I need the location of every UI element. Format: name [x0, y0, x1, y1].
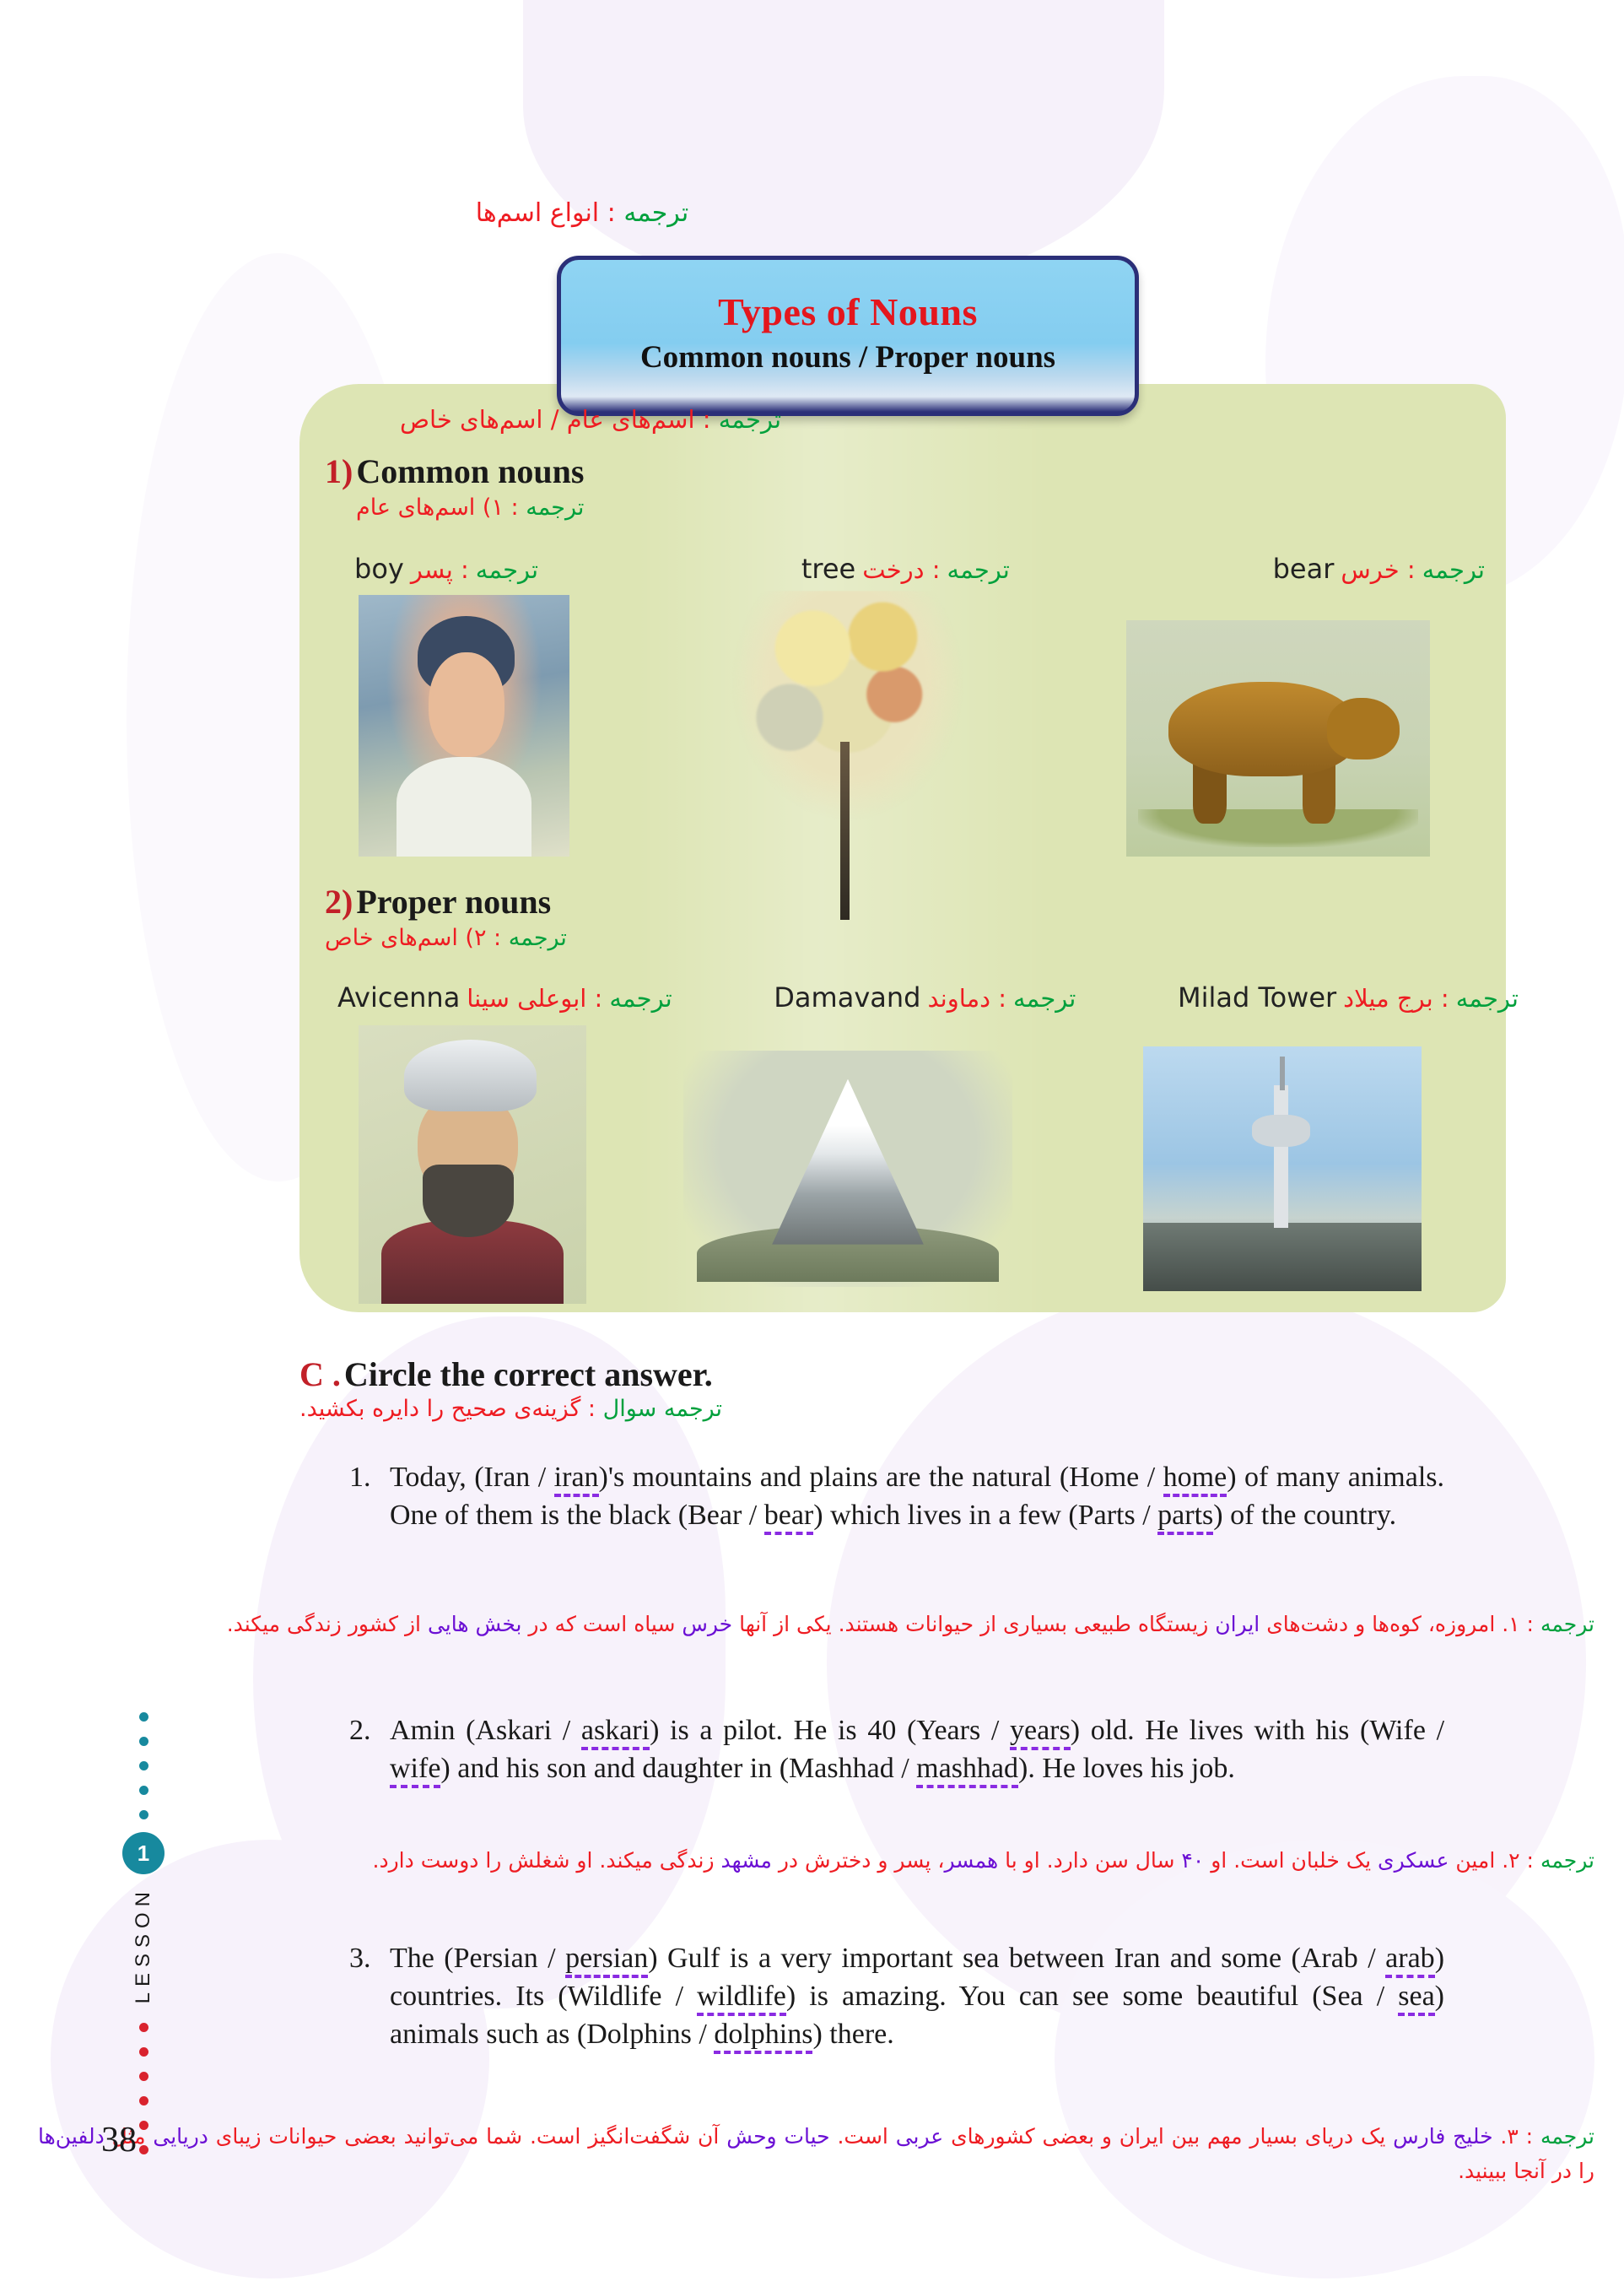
word-label-avicenna: Avicenna	[337, 981, 460, 1014]
distractor-underline[interactable]: home	[1163, 1462, 1227, 1497]
label-item-milad-tower: ترجمه : برج میلاد Milad Tower	[1178, 981, 1519, 1014]
red-dot	[139, 2121, 148, 2130]
label-item-avicenna: ترجمه : ابوعلی سینا Avicenna	[337, 981, 672, 1014]
question-3-translation: ترجمه : ۳. خلیج فارس یک دریای بسیار مهم …	[38, 2120, 1594, 2188]
translation-text: یک دریای بسیار مهم بین ایران و بعضی کشور…	[943, 2124, 1393, 2149]
page-subtitle: Common nouns / Proper nouns	[640, 339, 1055, 376]
label-item-bear: ترجمه : خرس bear	[1273, 553, 1485, 585]
question-text: The (Persian / persian) Gulf is a very i…	[390, 1943, 1444, 2054]
red-dot	[139, 2145, 148, 2154]
red-dot	[139, 2023, 148, 2032]
word-label-bear: bear	[1273, 553, 1335, 585]
distractor-underline[interactable]: parts	[1157, 1500, 1213, 1535]
word-label-boy: boy	[354, 553, 404, 585]
translation-text: سال سن دارد. او با	[998, 1848, 1181, 1873]
highlight-word: حیات وحش	[726, 2124, 829, 2149]
lesson-label: LESSON	[132, 1886, 155, 2003]
watermark-shape	[827, 1283, 1586, 2042]
question-2-translation: ترجمه : ۲. امین عسکری یک خلبان است. او ۴…	[38, 1844, 1594, 1878]
red-dot	[139, 2096, 148, 2106]
boy-photo	[359, 595, 569, 857]
page-title: Types of Nouns	[718, 289, 978, 334]
common-nouns-label-row: ترجمه : خرس bear ترجمه : درخت tree ترجمه…	[354, 553, 1485, 585]
types-of-nouns-title-plate: Types of Nouns Common nouns / Proper nou…	[557, 256, 1139, 416]
translation-keyword: ترجمه	[1456, 984, 1519, 1013]
translation-text: : ۱. امروزه، کوه‌ها و دشت‌های	[1260, 1612, 1540, 1636]
label-item-boy: ترجمه : پسر boy	[354, 553, 538, 585]
label-item-damavand: ترجمه : دماوند Damavand	[774, 981, 1076, 1014]
section-proper-nouns-heading: 2) Proper nouns ترجمه : ۲) اسم‌های خاص	[325, 882, 567, 951]
section-translation: ترجمه : ۱) اسم‌های عام	[325, 495, 584, 521]
translation-text: زیستگاه طبیعی بسیاری از حیوانات هستند. ی…	[732, 1612, 1215, 1636]
exercise-c-heading: C . Circle the correct answer. ترجمه سوا…	[299, 1354, 722, 1422]
translation-text: یک خلبان است. او	[1204, 1848, 1378, 1873]
question-text: Today, (Iran / iran)'s mountains and pla…	[390, 1462, 1444, 1535]
highlight-word: ایران	[1215, 1612, 1260, 1636]
word-label-milad-tower: Milad Tower	[1178, 981, 1336, 1014]
translation-text: زندگی میکند. او شغلش را دوست دارد.	[373, 1848, 721, 1873]
question-1: 1. Today, (Iran / iran)'s mountains and …	[390, 1458, 1444, 1534]
translation-text: : ۳.	[1493, 2124, 1540, 2149]
translation-text: : ۲) اسم‌های خاص	[325, 925, 509, 951]
teal-dot	[139, 1737, 148, 1746]
highlight-word: عسکری	[1378, 1848, 1449, 1873]
teal-dot	[139, 1712, 148, 1722]
red-dot	[139, 2047, 148, 2057]
lesson-number-badge: 1	[122, 1832, 165, 1874]
highlight-word: خلیج فارس	[1393, 2124, 1492, 2149]
page-number: 38	[101, 2120, 137, 2160]
translation-text: : ابوعلی سینا	[467, 984, 602, 1013]
translation-keyword: ترجمه سوال	[603, 1396, 722, 1422]
translation-keyword: ترجمه	[609, 984, 672, 1013]
highlight-word: دلفین‌ها	[38, 2124, 105, 2149]
translation-text: : ۲. امین	[1449, 1848, 1540, 1873]
highlight-word: خرس	[682, 1612, 732, 1636]
distractor-underline[interactable]: persian	[565, 1943, 648, 1978]
translation-text: : ۱) اسم‌های عام	[356, 495, 526, 521]
translation-keyword: ترجمه	[719, 405, 781, 434]
lesson-sidebar: 1 LESSON	[97, 1705, 190, 2162]
watermark-shape	[1055, 1840, 1594, 2278]
translation-keyword: ترجمه	[476, 555, 538, 584]
translation-keyword: ترجمه	[1540, 1848, 1594, 1873]
teal-dot	[139, 1761, 148, 1770]
translation-text: : درخت	[862, 555, 940, 584]
translation-keyword: ترجمه	[1013, 984, 1076, 1013]
section-number: 1)	[325, 452, 353, 490]
question-text: Amin (Askari / askari) is a pilot. He is…	[390, 1715, 1444, 1788]
distractor-underline[interactable]: iran	[554, 1462, 599, 1497]
red-dot	[139, 2072, 148, 2081]
question-2: 2. Amin (Askari / askari) is a pilot. He…	[390, 1711, 1444, 1787]
exercise-letter: C .	[299, 1355, 341, 1393]
distractor-underline[interactable]: wife	[390, 1753, 440, 1788]
bear-photo	[1126, 620, 1430, 857]
section-translation: ترجمه : ۲) اسم‌های خاص	[325, 925, 567, 951]
translation-text: : اسم‌های عام / اسم‌های خاص	[400, 405, 719, 434]
highlight-word: ۴۰	[1181, 1848, 1204, 1873]
watermark-shape	[523, 0, 1164, 295]
translation-text: ، پسر و دخترش در	[772, 1848, 945, 1873]
header-translation: ترجمه : انواع اسم‌ها	[0, 198, 1164, 228]
teal-dot	[139, 1810, 148, 1819]
translation-text: : پسر	[411, 555, 469, 584]
teal-dot	[139, 1786, 148, 1795]
question-number: 2.	[349, 1711, 371, 1749]
question-3: 3. The (Persian / persian) Gulf is a ver…	[390, 1939, 1444, 2054]
translation-text: است.	[830, 2124, 896, 2149]
section-number: 2)	[325, 883, 353, 921]
section-title: Common nouns	[356, 452, 584, 490]
proper-nouns-label-row: ترجمه : برج میلاد Milad Tower ترجمه : دم…	[337, 981, 1519, 1014]
milad-tower-photo	[1143, 1046, 1422, 1291]
translation-text: : گزینه‌ی صحیح را دایره بکشید.	[299, 1396, 603, 1422]
section-common-nouns-heading: 1) Common nouns ترجمه : ۱) اسم‌های عام	[325, 451, 584, 521]
distractor-underline[interactable]: dolphins	[714, 2019, 812, 2054]
translation-keyword: ترجمه	[623, 198, 688, 228]
highlight-word: مشهد	[721, 1848, 772, 1873]
distractor-underline[interactable]: bear	[764, 1500, 814, 1535]
question-number: 3.	[349, 1939, 371, 1977]
translation-text: : دماوند	[927, 984, 1006, 1013]
translation-text: آن شگفت‌انگیز است. شما می‌توانید بعضی حی…	[208, 2124, 726, 2149]
translation-text: : برج میلاد	[1343, 984, 1449, 1013]
tree-photo	[721, 591, 974, 920]
highlight-word: همسر	[944, 1848, 998, 1873]
section-title: Proper nouns	[356, 883, 551, 921]
translation-text: : انواع اسم‌ها	[476, 198, 624, 228]
highlight-word: عربی	[896, 2124, 944, 2149]
translation-keyword: ترجمه	[947, 555, 1010, 584]
label-item-tree: ترجمه : درخت tree	[801, 553, 1010, 585]
distractor-underline[interactable]: askari	[581, 1715, 650, 1750]
word-label-tree: tree	[801, 553, 855, 585]
subtitle-translation: ترجمه : اسم‌های عام / اسم‌های خاص	[0, 405, 1181, 434]
translation-text: سیاه است که در	[521, 1612, 682, 1636]
translation-keyword: ترجمه	[1540, 2124, 1594, 2149]
distractor-underline[interactable]: mashhad	[916, 1753, 1018, 1788]
translation-text: : خرس	[1341, 555, 1415, 584]
question-1-translation: ترجمه : ۱. امروزه، کوه‌ها و دشت‌های ایرا…	[38, 1608, 1594, 1642]
highlight-word: بخش هایی	[428, 1612, 522, 1636]
translation-keyword: ترجمه	[1422, 555, 1485, 584]
translation-keyword: ترجمه	[526, 495, 584, 521]
avicenna-photo	[359, 1025, 586, 1304]
word-label-damavand: Damavand	[774, 981, 920, 1014]
damavand-photo	[683, 1051, 1012, 1287]
translation-text: را در آنجا ببینید.	[1458, 2159, 1594, 2183]
exercise-instruction: Circle the correct answer.	[344, 1355, 713, 1393]
distractor-underline[interactable]: years	[1010, 1715, 1071, 1750]
translation-text: از کشور زندگی میکند.	[227, 1612, 428, 1636]
distractor-underline[interactable]: sea	[1398, 1981, 1434, 2016]
exercise-instruction-translation: ترجمه سوال : گزینه‌ی صحیح را دایره بکشید…	[299, 1396, 722, 1422]
translation-keyword: ترجمه	[509, 925, 567, 951]
question-number: 1.	[349, 1458, 371, 1496]
distractor-underline[interactable]: wildlife	[697, 1981, 786, 2016]
distractor-underline[interactable]: arab	[1385, 1943, 1435, 1978]
translation-keyword: ترجمه	[1540, 1612, 1594, 1636]
